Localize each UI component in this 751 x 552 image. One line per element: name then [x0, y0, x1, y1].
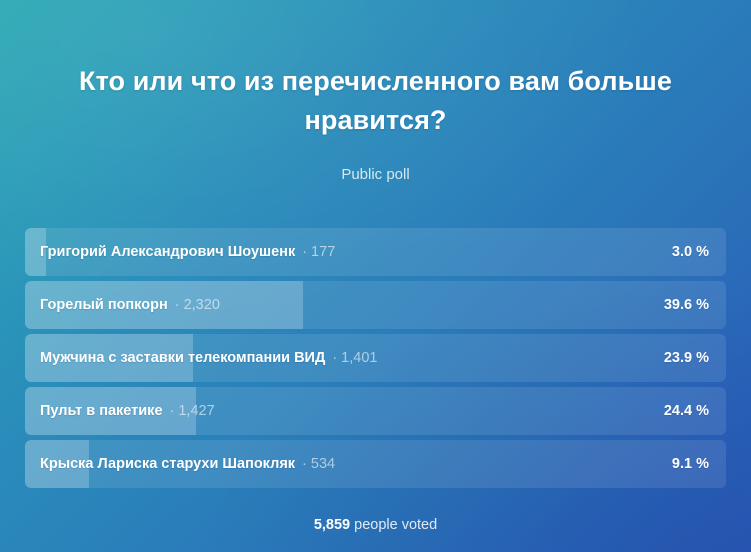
- poll-option-percent: 3.0 %: [672, 244, 709, 260]
- poll-option-row[interactable]: Мужчина с заставки телекомпании ВИД· 1,4…: [25, 334, 726, 382]
- poll-option-label: Крыска Лариска старухи Шапокляк: [40, 456, 295, 472]
- poll-option-votes: · 2,320: [175, 297, 220, 313]
- poll-option-percent: 23.9 %: [664, 350, 709, 366]
- poll-option-content: Григорий Александрович Шоушенк· 1773.0 %: [25, 228, 726, 276]
- poll-option-percent: 24.4 %: [664, 403, 709, 419]
- poll-option-label: Пульт в пакетике: [40, 403, 163, 419]
- poll-card: Кто или что из перечисленного вам больше…: [0, 0, 751, 552]
- poll-footer: 5,859people voted: [0, 517, 751, 533]
- poll-option-votes: · 177: [302, 244, 335, 260]
- poll-option-content: Крыска Лариска старухи Шапокляк· 5349.1 …: [25, 440, 726, 488]
- poll-option-percent: 9.1 %: [672, 456, 709, 472]
- poll-option-votes: · 534: [302, 456, 335, 472]
- poll-option-row[interactable]: Крыска Лариска старухи Шапокляк· 5349.1 …: [25, 440, 726, 488]
- poll-subtitle: Public poll: [46, 140, 705, 184]
- poll-option-label: Григорий Александрович Шоушенк: [40, 244, 295, 260]
- poll-header: Кто или что из перечисленного вам больше…: [0, 0, 751, 184]
- poll-options-list: Григорий Александрович Шоушенк· 1773.0 %…: [0, 228, 751, 488]
- poll-option-percent: 39.6 %: [664, 297, 709, 313]
- poll-option-row[interactable]: Григорий Александрович Шоушенк· 1773.0 %: [25, 228, 726, 276]
- page-title: Кто или что из перечисленного вам больше…: [46, 0, 705, 140]
- poll-option-content: Пульт в пакетике· 1,42724.4 %: [25, 387, 726, 435]
- poll-option-label: Мужчина с заставки телекомпании ВИД: [40, 350, 325, 366]
- total-votes-label: people voted: [354, 517, 437, 533]
- total-votes-count: 5,859: [314, 517, 350, 533]
- poll-option-content: Мужчина с заставки телекомпании ВИД· 1,4…: [25, 334, 726, 382]
- poll-option-row[interactable]: Горелый попкорн· 2,32039.6 %: [25, 281, 726, 329]
- poll-option-label: Горелый попкорн: [40, 297, 168, 313]
- poll-option-votes: · 1,427: [170, 403, 215, 419]
- poll-option-content: Горелый попкорн· 2,32039.6 %: [25, 281, 726, 329]
- poll-option-votes: · 1,401: [332, 350, 377, 366]
- poll-option-row[interactable]: Пульт в пакетике· 1,42724.4 %: [25, 387, 726, 435]
